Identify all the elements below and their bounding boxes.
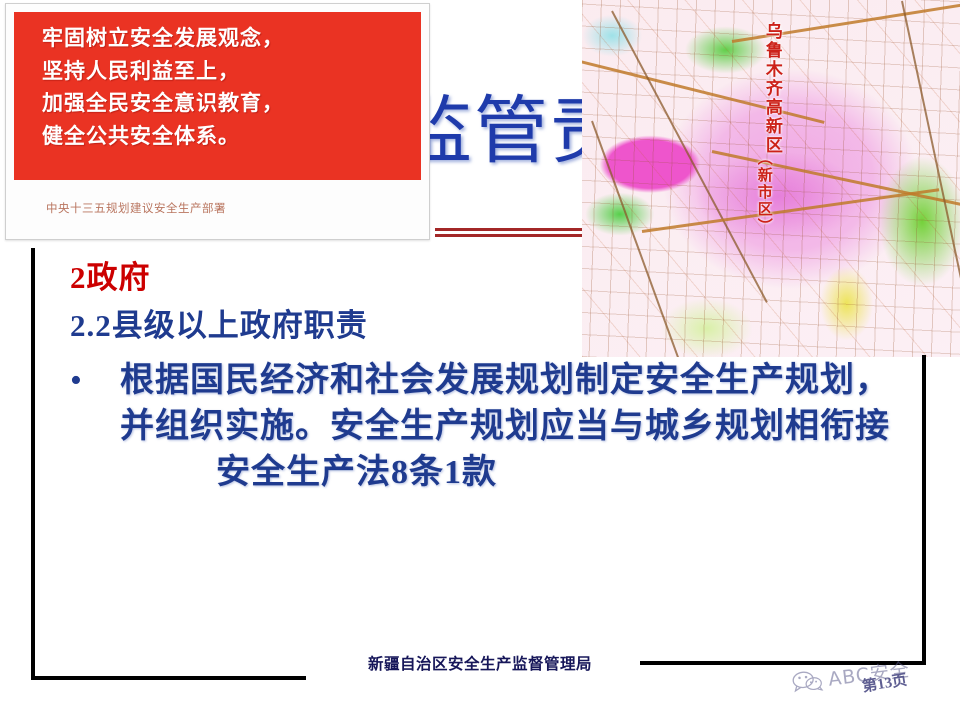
poster-line: 牢固树立安全发展观念， [42,22,421,55]
content-frame-bottom-left-rule [31,676,306,680]
bullet-body: 根据国民经济和社会发展规划制定安全生产规划，并组织实施。安全生产规划应当与城乡规… [120,358,904,497]
slide-canvas: 监管责任 牢固树立安全发展观念， 坚持人民利益至上， 加强全民安全意识教育， 健… [0,0,960,720]
wechat-icon [791,668,823,693]
content-frame-right-rule [922,355,926,665]
urumqi-district-map-image: 乌鲁木齐高新区 （新市区） [582,0,960,357]
content-frame-left-rule [31,248,35,680]
poster-line: 加强全民安全意识教育， [42,87,421,120]
bullet-list-item: • 根据国民经济和社会发展规划制定安全生产规划，并组织实施。安全生产规划应当与城… [64,358,904,497]
bullet-body-text: 根据国民经济和社会发展规划制定安全生产规划，并组织实施。安全生产规划应当与城乡规… [120,362,890,445]
poster-line: 坚持人民利益至上， [42,55,421,88]
section-heading: 2政府 [70,252,151,297]
poster-line: 健全公共安全体系。 [42,120,421,153]
section-subheading: 2.2县级以上政府职责 [70,300,368,345]
poster-caption: 中央十三五规划建议安全生产部署 [46,200,226,216]
map-label: 乌鲁木齐高新区 [762,22,780,155]
legal-citation: 安全生产法8条1款 [120,450,497,496]
policy-poster-image: 牢固树立安全发展观念， 坚持人民利益至上， 加强全民安全意识教育， 健全公共安全… [5,3,430,240]
poster-red-panel: 牢固树立安全发展观念， 坚持人民利益至上， 加强全民安全意识教育， 健全公共安全… [14,12,421,180]
bullet-marker: • [64,358,120,404]
map-label: （新市区） [756,150,772,235]
